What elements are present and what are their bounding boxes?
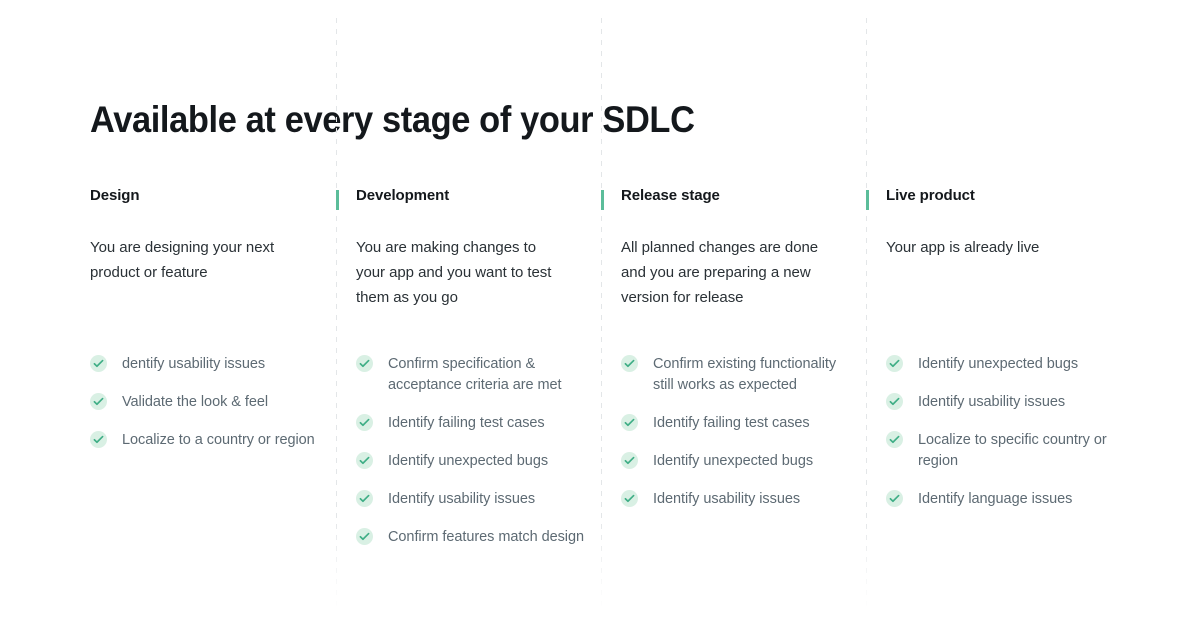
column-heading: Live product [886, 186, 1111, 206]
column-checklist: Confirm existing functionality still wor… [621, 354, 853, 510]
check-circle-icon [886, 355, 903, 372]
list-item: Identify unexpected bugs [356, 451, 588, 472]
list-item-label: Localize to a country or region [122, 432, 315, 448]
column-description: Your app is already live [886, 235, 1098, 260]
list-item: Localize to specific country or region [886, 430, 1118, 472]
list-item-label: Localize to specific country or region [918, 432, 1107, 469]
check-circle-icon [886, 393, 903, 410]
list-item: Validate the look & feel [90, 392, 322, 413]
list-item: Identify failing test cases [621, 413, 853, 434]
list-item: Localize to a country or region [90, 430, 322, 451]
check-circle-icon [356, 414, 373, 431]
column-checklist: dentify usability issues Validate the lo… [90, 354, 322, 451]
list-item-label: Identify usability issues [918, 394, 1065, 410]
stage-column-design: Design You are designing your next produ… [90, 186, 315, 300]
column-heading: Design [90, 186, 315, 206]
list-item: Identify usability issues [356, 489, 588, 510]
column-checklist: Identify unexpected bugs Identify usabil… [886, 354, 1118, 510]
list-item-label: Confirm features match design [388, 529, 584, 545]
accent-bar [866, 190, 869, 210]
list-item: Identify unexpected bugs [621, 451, 853, 472]
check-circle-icon [356, 452, 373, 469]
column-description: All planned changes are done and you are… [621, 235, 833, 310]
list-item-label: Validate the look & feel [122, 394, 268, 410]
list-item-label: Identify unexpected bugs [653, 453, 813, 469]
check-circle-icon [621, 355, 638, 372]
check-circle-icon [886, 490, 903, 507]
column-heading: Development [356, 186, 581, 206]
column-description: You are designing your next product or f… [90, 235, 302, 285]
column-description: You are making changes to your app and y… [356, 235, 568, 310]
list-item: Identify usability issues [886, 392, 1118, 413]
check-circle-icon [90, 355, 107, 372]
list-item: Identify unexpected bugs [886, 354, 1118, 375]
column-checklist: Confirm specification & acceptance crite… [356, 354, 588, 548]
list-item-label: Identify unexpected bugs [918, 356, 1078, 372]
check-circle-icon [90, 393, 107, 410]
list-item: Confirm specification & acceptance crite… [356, 354, 588, 396]
list-item-label: Identify language issues [918, 491, 1072, 507]
check-circle-icon [356, 490, 373, 507]
stage-column-live-product: Live product Your app is already live Id… [886, 186, 1111, 275]
check-circle-icon [621, 452, 638, 469]
list-item-label: Confirm existing functionality still wor… [653, 356, 836, 393]
list-item: Identify failing test cases [356, 413, 588, 434]
accent-bar [601, 190, 604, 210]
list-item: dentify usability issues [90, 354, 322, 375]
list-item-label: dentify usability issues [122, 356, 265, 372]
list-item-label: Confirm specification & acceptance crite… [388, 356, 562, 393]
list-item: Confirm features match design [356, 527, 588, 548]
list-item: Identify usability issues [621, 489, 853, 510]
list-item: Identify language issues [886, 489, 1118, 510]
list-item-label: Identify failing test cases [388, 415, 545, 431]
stage-columns: Design You are designing your next produ… [0, 0, 1200, 630]
list-item-label: Identify unexpected bugs [388, 453, 548, 469]
list-item-label: Identify usability issues [388, 491, 535, 507]
check-circle-icon [621, 414, 638, 431]
list-item-label: Identify usability issues [653, 491, 800, 507]
slide-canvas: Available at every stage of your SDLC De… [0, 0, 1200, 630]
list-item: Confirm existing functionality still wor… [621, 354, 853, 396]
stage-column-release: Release stage All planned changes are do… [621, 186, 846, 325]
check-circle-icon [356, 355, 373, 372]
check-circle-icon [90, 431, 107, 448]
stage-column-development: Development You are making changes to yo… [356, 186, 581, 325]
check-circle-icon [356, 528, 373, 545]
accent-bar [336, 190, 339, 210]
check-circle-icon [621, 490, 638, 507]
column-heading: Release stage [621, 186, 846, 206]
list-item-label: Identify failing test cases [653, 415, 810, 431]
check-circle-icon [886, 431, 903, 448]
